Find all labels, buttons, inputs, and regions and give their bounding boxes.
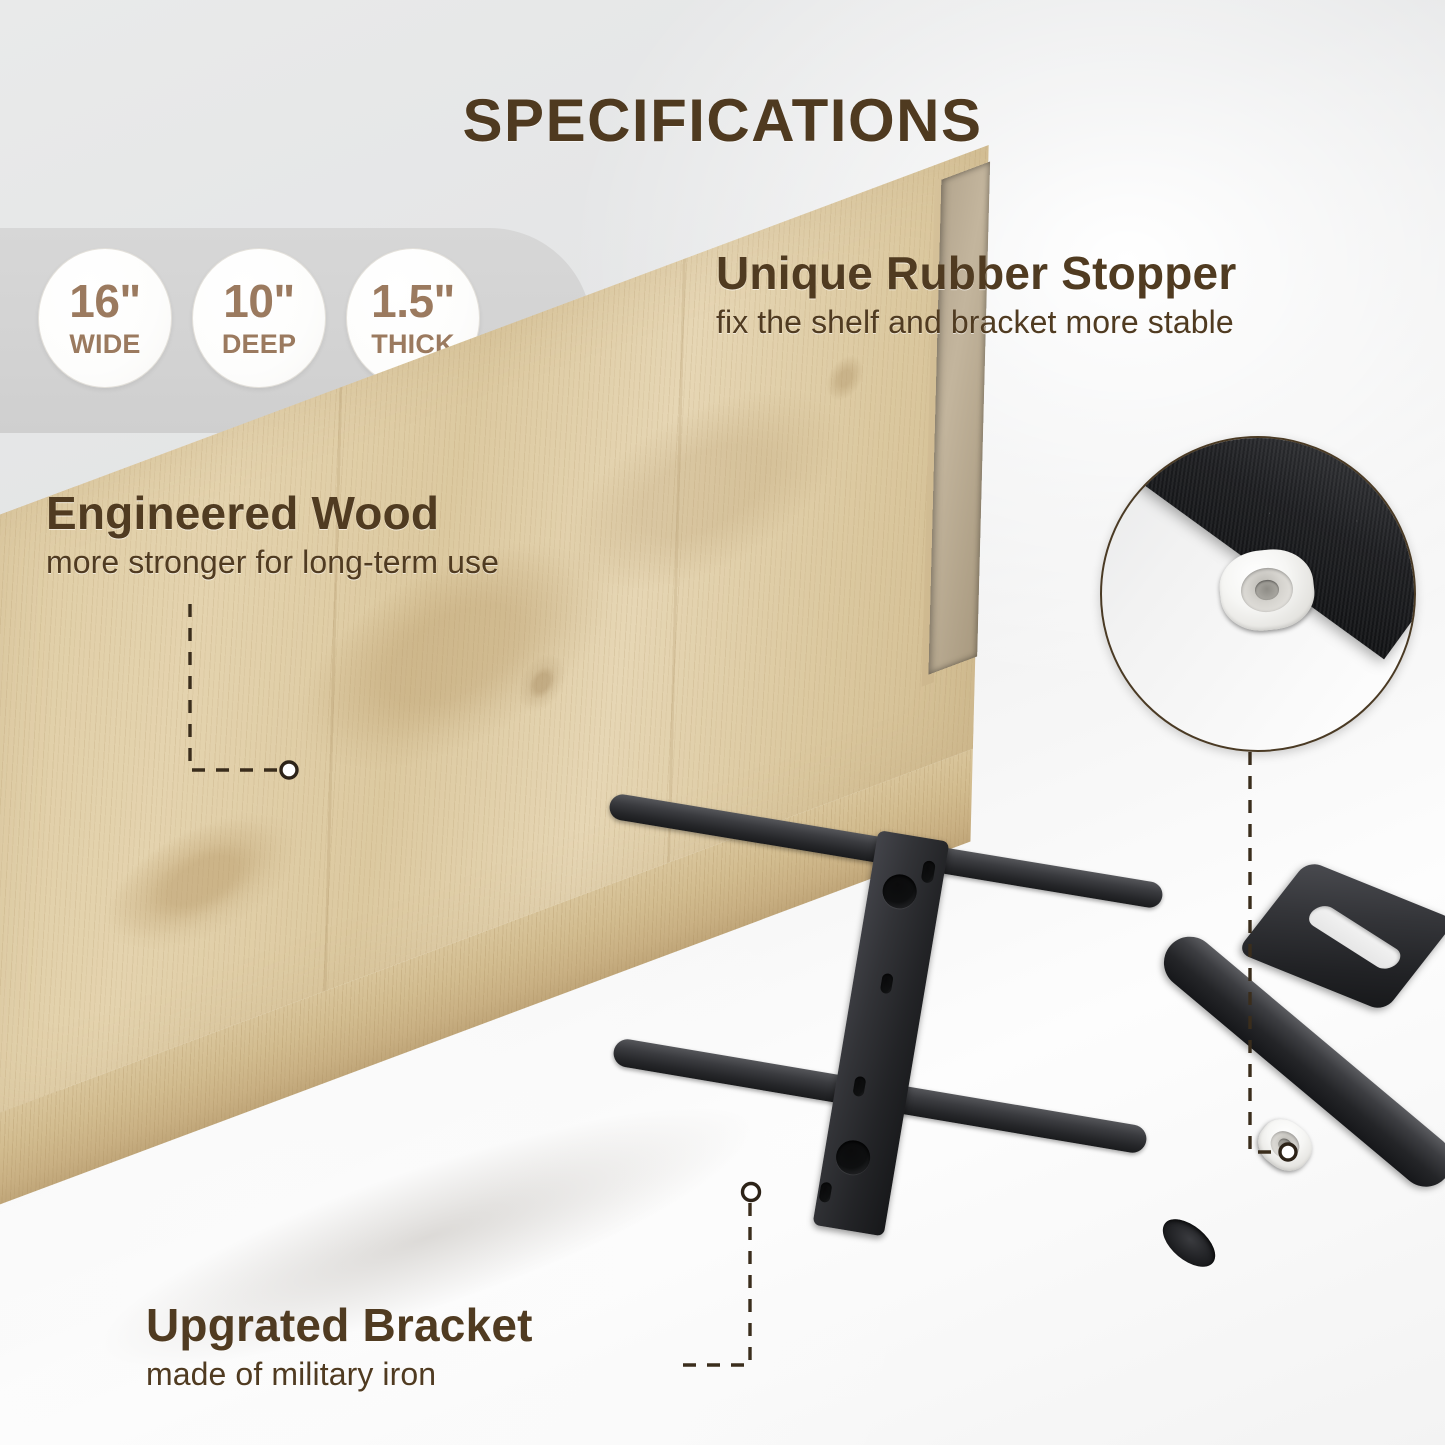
callout-heading: Engineered Wood	[46, 486, 499, 540]
callout-rubber-stopper: Unique Rubber Stopper fix the shelf and …	[716, 246, 1236, 341]
leader-line-rubber-stopper	[1250, 752, 1276, 1152]
leader-dot-upgraded-bracket	[743, 1184, 760, 1201]
callout-subtext: fix the shelf and bracket more stable	[716, 304, 1236, 341]
callout-engineered-wood: Engineered Wood more stronger for long-t…	[46, 486, 499, 581]
leader-dot-rubber-stopper	[1280, 1144, 1296, 1160]
leader-line-engineered-wood	[190, 604, 283, 770]
callout-subtext: made of military iron	[146, 1356, 533, 1393]
callout-leader-lines	[0, 0, 1445, 1445]
callout-heading: Unique Rubber Stopper	[716, 246, 1236, 300]
callout-subtext: more stronger for long-term use	[46, 544, 499, 581]
callout-heading: Upgrated Bracket	[146, 1298, 533, 1352]
callout-upgraded-bracket: Upgrated Bracket made of military iron	[146, 1298, 533, 1393]
leader-dot-engineered-wood	[281, 762, 297, 778]
specifications-infographic: SPECIFICATIONS 16" WIDE 10" DEEP 1.5" TH…	[0, 0, 1445, 1445]
leader-line-upgraded-bracket	[676, 1203, 750, 1365]
